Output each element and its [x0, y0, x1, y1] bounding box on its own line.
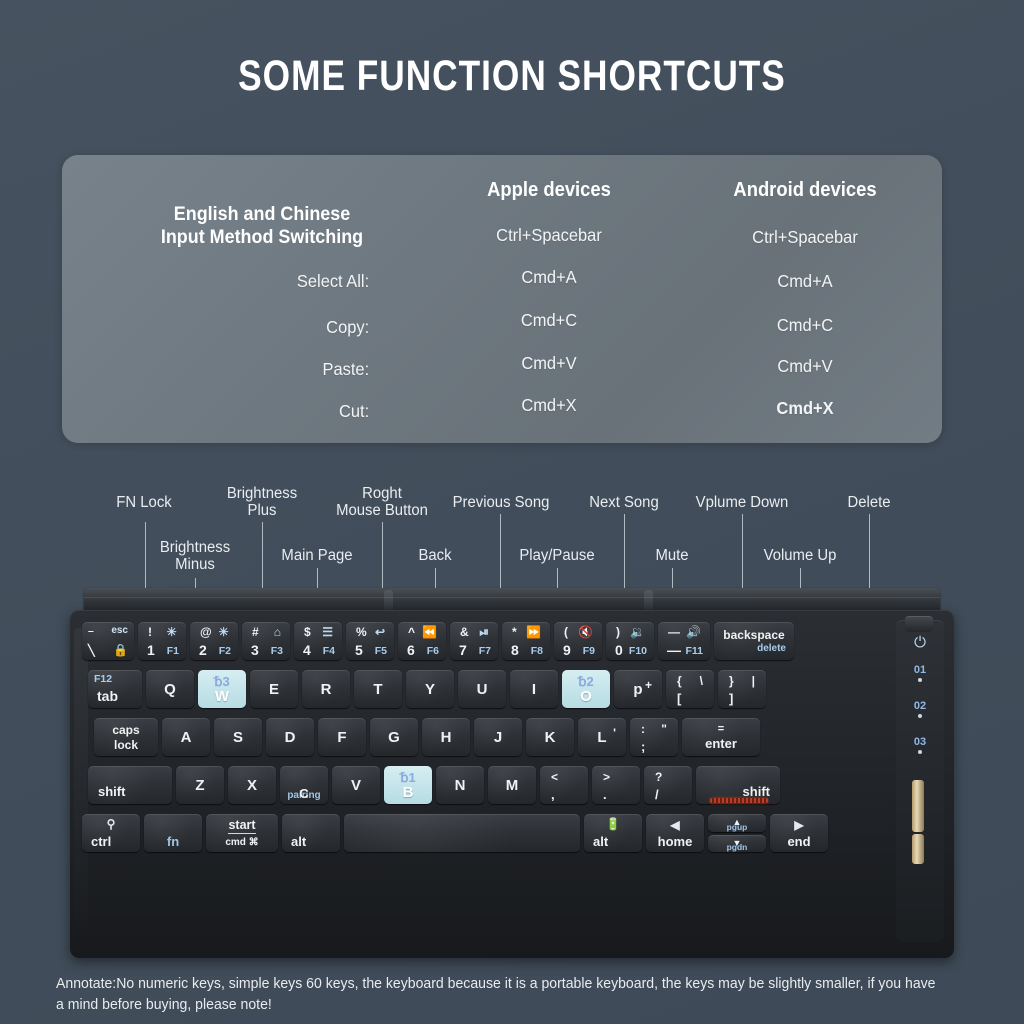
key-label: fn: [167, 834, 179, 849]
key-symbol: (: [564, 625, 568, 639]
f6-previous-icon: ⏪: [422, 625, 437, 639]
column-header-apple: Apple devices: [443, 179, 655, 203]
key-label: shift: [743, 784, 770, 799]
key-c-pairing[interactable]: pairingC: [280, 766, 328, 804]
key-label: I: [532, 681, 536, 698]
key-period[interactable]: >.: [592, 766, 640, 804]
key-letter: B: [384, 784, 432, 801]
row-label-paste: Paste:: [112, 359, 413, 380]
key-symbol: $: [304, 625, 311, 639]
key-arrow-down-pgdn[interactable]: ▼pgdn: [708, 835, 766, 853]
f9-mute-icon: 🔇: [578, 625, 593, 639]
key-label: G: [388, 729, 400, 746]
key-label: M: [506, 777, 519, 794]
callout-label-previous-song: Previous Song: [442, 494, 559, 511]
key-label: C: [280, 786, 328, 801]
key-k[interactable]: K: [526, 718, 574, 756]
key-fn[interactable]: fn: [144, 814, 202, 852]
key-p[interactable]: +p: [614, 670, 662, 708]
key-f[interactable]: F: [318, 718, 366, 756]
keyboard-row-bottom: ⚲ctrlfnstartcmd ⌘alt🔋alt◀home▲pgup▼pgdn▶…: [82, 814, 828, 852]
power-icon[interactable]: ⏻: [896, 634, 944, 651]
f2-brightness-up-icon: ☀: [218, 625, 229, 639]
key-f8-next[interactable]: *8⏩F8: [502, 622, 550, 660]
fn-lock-icon: 🔒: [113, 643, 128, 657]
key-symbol: ): [616, 625, 620, 639]
apple-input-switching: Ctrl+Spacebar: [441, 225, 657, 246]
fkey-label: F1: [167, 645, 179, 657]
key-label-secondary: delete: [757, 643, 786, 654]
key-label: J: [494, 729, 502, 746]
key-o-bluetooth-2[interactable]: ␢2O: [562, 670, 610, 708]
fkey-label: F4: [323, 645, 335, 657]
key-label-primary: start: [228, 818, 255, 834]
hinge-ribbon: [710, 798, 768, 803]
key-a[interactable]: A: [162, 718, 210, 756]
key-f11-volume-up[interactable]: ——🔊F11: [658, 622, 710, 660]
fkey-label: F2: [219, 645, 231, 657]
key-symbol-lower: ,: [551, 787, 555, 802]
fkey-label: F8: [531, 645, 543, 657]
key-label-secondary: enter: [705, 736, 737, 751]
key-label-secondary: lock: [114, 738, 138, 752]
key-label: A: [181, 729, 192, 746]
key-symbol-upper: {: [677, 674, 682, 688]
key-arrow-up-pgup[interactable]: ▲pgup: [708, 814, 766, 832]
key-label: U: [477, 681, 488, 698]
key-label: S: [233, 729, 243, 746]
f4-menu-icon: ☰: [322, 625, 333, 639]
key-e[interactable]: E: [250, 670, 298, 708]
key-letter: O: [562, 688, 610, 705]
row-label-select-all: Select All:: [112, 271, 413, 292]
android-select-all: Cmd+A: [697, 271, 913, 292]
key-number: 0: [615, 642, 623, 658]
key-spacebar[interactable]: [344, 814, 580, 852]
key-esc[interactable]: –esc╲🔒: [82, 622, 134, 660]
key-backspace[interactable]: backspacedelete: [714, 622, 794, 660]
key-label: X: [247, 777, 257, 794]
key-comma[interactable]: <,: [540, 766, 588, 804]
key-symbol: —: [668, 625, 680, 639]
key-number: 3: [251, 642, 259, 658]
fkey-label: F11: [685, 645, 703, 657]
fkey-label: F6: [427, 645, 439, 657]
key-number: 4: [303, 642, 311, 658]
key-number: 2: [199, 642, 207, 658]
keyboard-row-function: –esc╲🔒!1☀F1@2☀F2#3⌂F3$4☰F4%5↩F5^6⏪F6&7⏯F…: [82, 622, 794, 660]
key-y[interactable]: Y: [406, 670, 454, 708]
key-number: 5: [355, 642, 363, 658]
apple-paste: Cmd+V: [441, 353, 657, 374]
key-symbol-upper: <: [551, 770, 558, 784]
key-number: 8: [511, 642, 519, 658]
key-semicolon[interactable]: :";: [630, 718, 678, 756]
key-letter: W: [198, 688, 246, 705]
fkey-label: F9: [583, 645, 595, 657]
key-label: alt: [291, 834, 306, 849]
key-z[interactable]: Z: [176, 766, 224, 804]
key-label: p: [633, 681, 642, 698]
keyboard-row-shift: shiftZXpairingCV␢1BNM<,>.?/shift: [88, 766, 780, 804]
key-number: 7: [459, 642, 467, 658]
arrow-left-home-icon: ◀: [670, 818, 679, 832]
key-label: shift: [98, 784, 125, 799]
android-copy: Cmd+C: [697, 315, 913, 336]
key-symbol: !: [148, 625, 152, 639]
callout-label-back: Back: [409, 547, 461, 564]
key-f5-back[interactable]: %5↩F5: [346, 622, 394, 660]
pgdn-label: pgdn: [708, 842, 766, 852]
key-symbol-upper-2: |: [752, 674, 755, 688]
key-m[interactable]: M: [488, 766, 536, 804]
callout-label-main-page: Main Page: [274, 547, 360, 564]
key-symbol: %: [356, 625, 367, 639]
callout-label-roght-mouse-button: Roght Mouse Button: [322, 485, 441, 520]
key-f10-volume-down[interactable]: )0🔉F10: [606, 622, 654, 660]
row-label-copy: Copy:: [112, 317, 413, 338]
key-arrow-left-home[interactable]: ◀home: [646, 814, 704, 852]
key-r[interactable]: R: [302, 670, 350, 708]
key-alt-right[interactable]: 🔋alt: [584, 814, 642, 852]
key-j[interactable]: J: [474, 718, 522, 756]
key-enter[interactable]: =enter: [682, 718, 760, 756]
key-ctrl[interactable]: ⚲ctrl: [82, 814, 140, 852]
key-label: end: [770, 834, 828, 849]
key-bracket-left[interactable]: {\[: [666, 670, 714, 708]
key-symbol-upper-2: ": [661, 722, 667, 736]
key-n[interactable]: N: [436, 766, 484, 804]
key-symbol-upper: :: [641, 722, 645, 736]
fkey-label: F3: [271, 645, 283, 657]
key-number: —: [667, 642, 681, 658]
keyboard-top-button[interactable]: [905, 616, 933, 632]
key-dash: –: [88, 625, 94, 637]
callout-label-play-pause: Play/Pause: [510, 547, 604, 564]
key-symbol-upper: +: [645, 678, 652, 692]
key-symbol-lower: [: [677, 691, 681, 706]
key-h[interactable]: H: [422, 718, 470, 756]
key-f4-menu[interactable]: $4☰F4: [294, 622, 342, 660]
apple-copy: Cmd+C: [441, 310, 657, 331]
keyboard-row-qwerty: F12tabQ␢3WERTYUI␢2O+p{\[}|]: [88, 670, 766, 708]
key-label-primary: caps: [112, 723, 139, 737]
key-g[interactable]: G: [370, 718, 418, 756]
key-label: tab: [97, 688, 118, 704]
key-shift-left[interactable]: shift: [88, 766, 172, 804]
key-label: F: [337, 729, 346, 746]
key-b-bluetooth-1[interactable]: ␢1B: [384, 766, 432, 804]
key-label: ctrl: [91, 834, 111, 849]
key-arrows-updown[interactable]: ▲pgup▼pgdn: [708, 814, 766, 852]
key-label: Z: [195, 777, 204, 794]
key-f3-home[interactable]: #3⌂F3: [242, 622, 290, 660]
key-f1-brightness-down[interactable]: !1☀F1: [138, 622, 186, 660]
key-symbol-upper: ?: [655, 770, 662, 784]
key-label: E: [269, 681, 279, 698]
key-i[interactable]: I: [510, 670, 558, 708]
led-01: 01: [896, 664, 944, 682]
key-symbol-lower: ]: [729, 691, 733, 706]
key-alt-left[interactable]: alt: [282, 814, 340, 852]
keyboard-side-panel: ⏻ 01 02 03: [896, 620, 944, 942]
key-l[interactable]: 'L: [578, 718, 626, 756]
key-label: home: [646, 834, 704, 849]
f3-home-icon: ⌂: [274, 625, 281, 639]
key-label: D: [285, 729, 296, 746]
key-symbol: &: [460, 625, 469, 639]
callout-label-fn-lock: FN Lock: [106, 494, 183, 511]
key-fkey-top: F12: [94, 673, 112, 685]
key-number: 1: [147, 642, 155, 658]
led-01-dot: [918, 678, 922, 682]
f8-next-icon: ⏩: [526, 625, 541, 639]
led-03: 03: [896, 736, 944, 754]
arrow-right-end-icon: ▶: [794, 818, 803, 832]
led-03-label: 03: [896, 736, 944, 748]
key-symbol: #: [252, 625, 259, 639]
callout-label-mute: Mute: [647, 547, 697, 564]
key-symbol-upper: >: [603, 770, 610, 784]
key-symbol: *: [512, 625, 517, 639]
footer-note: Annotate:No numeric keys, simple keys 60…: [56, 974, 946, 1016]
shortcut-column-android: Android devices Ctrl+Spacebar Cmd+A Cmd+…: [690, 155, 920, 443]
keyboard-key-deck: –esc╲🔒!1☀F1@2☀F2#3⌂F3$4☰F4%5↩F5^6⏪F6&7⏯F…: [82, 622, 882, 940]
apple-cut: Cmd+X: [441, 395, 657, 416]
key-f7-play-pause[interactable]: &7⏯F7: [450, 622, 498, 660]
f10-volume-down-icon: 🔉: [630, 625, 645, 639]
alt-right-icon: 🔋: [606, 817, 621, 831]
android-input-switching: Ctrl+Spacebar: [697, 227, 913, 248]
shortcut-table-panel: English and ChineseInput Method Switchin…: [62, 155, 942, 443]
key-symbol: ^: [408, 625, 415, 639]
keyboard-illustration: –esc╲🔒!1☀F1@2☀F2#3⌂F3$4☰F4%5↩F5^6⏪F6&7⏯F…: [62, 588, 962, 963]
callout-label-brightness-plus: Brightness Plus: [216, 485, 308, 520]
key-u[interactable]: U: [458, 670, 506, 708]
callout-label-next-song: Next Song: [580, 494, 668, 511]
keyboard-body: –esc╲🔒!1☀F1@2☀F2#3⌂F3$4☰F4%5↩F5^6⏪F6&7⏯F…: [70, 610, 954, 958]
apple-select-all: Cmd+A: [441, 267, 657, 288]
esc-label: esc: [111, 625, 128, 636]
column-header-android: Android devices: [699, 179, 911, 203]
fkey-label: F10: [629, 645, 647, 657]
key-f6-previous[interactable]: ^6⏪F6: [398, 622, 446, 660]
row-label-cut: Cut:: [112, 401, 413, 422]
key-d[interactable]: D: [266, 718, 314, 756]
key-f2-brightness-up[interactable]: @2☀F2: [190, 622, 238, 660]
key-arrow-right-end[interactable]: ▶end: [770, 814, 828, 852]
f5-back-icon: ↩: [375, 625, 385, 639]
key-s[interactable]: S: [214, 718, 262, 756]
f11-volume-up-icon: 🔊: [686, 625, 701, 639]
callout-label-vplume-down: Vplume Down: [684, 494, 799, 511]
key-label: H: [441, 729, 452, 746]
key-symbol-upper-2: \: [700, 674, 703, 688]
key-symbol-lower: .: [603, 787, 607, 802]
key-q[interactable]: Q: [146, 670, 194, 708]
key-x[interactable]: X: [228, 766, 276, 804]
key-label: R: [321, 681, 332, 698]
key-label: alt: [593, 834, 608, 849]
key-label: Y: [425, 681, 435, 698]
led-02-label: 02: [896, 700, 944, 712]
android-paste: Cmd+V: [697, 356, 913, 377]
fkey-label: F7: [479, 645, 491, 657]
hinge-clip-upper: [912, 780, 924, 832]
key-label: K: [545, 729, 556, 746]
f1-brightness-down-icon: ☀: [166, 625, 177, 639]
key-label: N: [455, 777, 466, 794]
key-symbol-upper: }: [729, 674, 734, 688]
ctrl-icon: ⚲: [107, 817, 116, 831]
callout-label-volume-up: Volume Up: [756, 547, 844, 564]
keyboard-row-home: capslockASDFGHJK'L:";=enter: [94, 718, 760, 756]
key-symbol: @: [200, 625, 212, 639]
page-title: SOME FUNCTION SHORTCUTS: [92, 52, 932, 101]
shortcut-column-label: English and ChineseInput Method Switchin…: [102, 155, 422, 443]
page-root: SOME FUNCTION SHORTCUTS English and Chin…: [0, 0, 1024, 1024]
led-02-dot: [918, 714, 922, 718]
key-caps-lock[interactable]: capslock: [94, 718, 158, 756]
led-03-dot: [918, 750, 922, 754]
key-v[interactable]: V: [332, 766, 380, 804]
key-bracket-right[interactable]: }|]: [718, 670, 766, 708]
column-header-input-switching: English and ChineseInput Method Switchin…: [115, 203, 409, 249]
key-label: Q: [164, 681, 176, 698]
key-label: V: [351, 777, 361, 794]
key-slash[interactable]: ?/: [644, 766, 692, 804]
key-f9-mute[interactable]: (9🔇F9: [554, 622, 602, 660]
key-w-bluetooth-3[interactable]: ␢3W: [198, 670, 246, 708]
key-start-cmd[interactable]: startcmd ⌘: [206, 814, 278, 852]
key-label-secondary: cmd ⌘: [225, 837, 258, 848]
key-label: T: [373, 681, 382, 698]
key-tab[interactable]: F12tab: [88, 670, 142, 708]
key-label-primary: =: [718, 723, 724, 735]
key-number: 9: [563, 642, 571, 658]
key-number: 6: [407, 642, 415, 658]
hinge-clip-lower: [912, 834, 924, 864]
led-02: 02: [896, 700, 944, 718]
android-cut: Cmd+X: [697, 398, 913, 419]
pgup-label: pgup: [708, 822, 766, 832]
backslash-glyph: ╲: [88, 644, 95, 657]
key-t[interactable]: T: [354, 670, 402, 708]
led-01-label: 01: [896, 664, 944, 676]
key-symbol-upper: ': [613, 726, 616, 740]
key-label-primary: backspace: [723, 628, 784, 642]
key-symbol-lower: ;: [641, 739, 645, 754]
key-label: L: [597, 729, 606, 746]
key-symbol-lower: /: [655, 787, 659, 802]
shortcut-column-apple: Apple devices Ctrl+Spacebar Cmd+A Cmd+C …: [434, 155, 664, 443]
f7-play-pause-icon: ⏯: [479, 625, 489, 640]
callout-label-brightness-minus: Brightness Minus: [149, 539, 241, 574]
fkey-label: F5: [375, 645, 387, 657]
callout-label-delete: Delete: [837, 494, 900, 511]
